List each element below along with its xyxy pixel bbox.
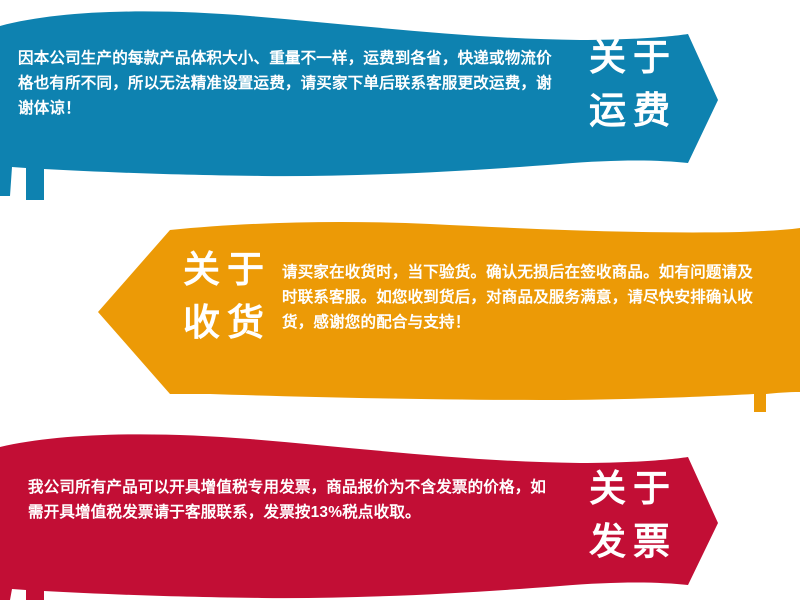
banner-title-invoice: 关于 发票 xyxy=(548,463,718,568)
banner-body-text-invoice: 我公司所有产品可以开具增值税专用发票，商品报价为不含发票的价格，如需开具增值税发… xyxy=(28,475,558,525)
banner-title-receipt: 关于 收货 xyxy=(142,244,312,349)
banner-title-shipping: 关于 运费 xyxy=(548,32,718,137)
banner-about-shipping: 因本公司生产的每款产品体积大小、重量不一样，运费到各省，快递或物流价格也有所不同… xyxy=(0,0,800,215)
banner-body-text-receipt: 请买家在收货时，当下验货。确认无损后在签收商品。如有问题请及时联系客服。如您收到… xyxy=(282,260,762,335)
banner-about-invoice: 我公司所有产品可以开具增值税专用发票，商品报价为不含发票的价格，如需开具增值税发… xyxy=(0,425,800,600)
banner-body-text-shipping: 因本公司生产的每款产品体积大小、重量不一样，运费到各省，快递或物流价格也有所不同… xyxy=(18,46,558,121)
promo-banner-page: 因本公司生产的每款产品体积大小、重量不一样，运费到各省，快递或物流价格也有所不同… xyxy=(0,0,800,600)
banner-about-receiving: 请买家在收货时，当下验货。确认无损后在签收商品。如有问题请及时联系客服。如您收到… xyxy=(0,212,800,412)
